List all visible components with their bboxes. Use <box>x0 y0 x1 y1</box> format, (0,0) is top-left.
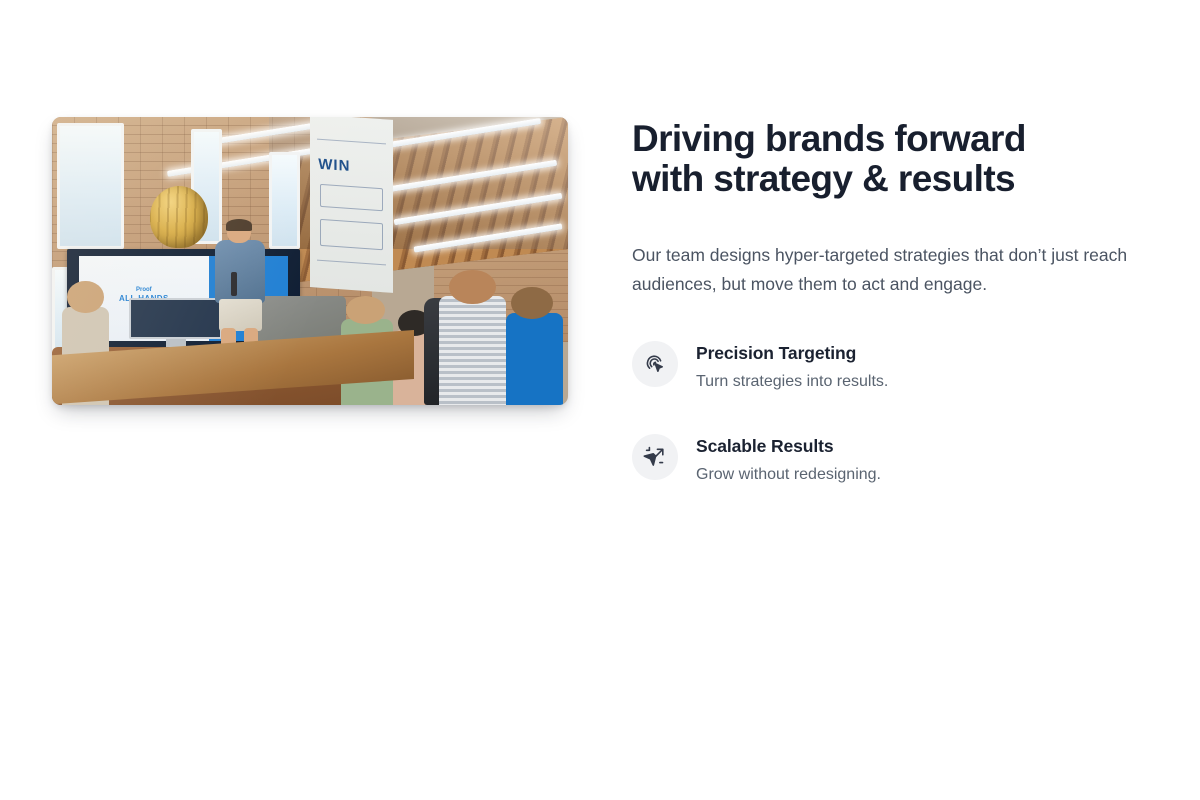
page-title: Driving brands forward with strategy & r… <box>632 119 1112 199</box>
expand-arrow-icon <box>632 434 678 480</box>
feature-title: Scalable Results <box>696 435 881 457</box>
feature-text: Precision Targeting Turn strategies into… <box>696 341 888 392</box>
headline-line-2: with strategy & results <box>632 159 1112 199</box>
hero-section: WIN Proof ALL HANDS 6/28/2019 <box>52 117 1148 485</box>
seated-person-head <box>511 287 552 319</box>
microphone <box>231 272 237 296</box>
window <box>269 152 300 250</box>
feature-description: Turn strategies into results. <box>696 372 888 392</box>
hero-subcopy: Our team designs hyper-targeted strategi… <box>632 241 1148 299</box>
landing-page: WIN Proof ALL HANDS 6/28/2019 <box>0 0 1200 800</box>
mural-win-text: WIN <box>318 156 350 175</box>
hero-copy: Driving brands forward with strategy & r… <box>632 117 1148 485</box>
desk-monitor <box>129 298 222 338</box>
seated-person <box>439 296 506 405</box>
seated-person <box>506 313 563 405</box>
feature-description: Grow without redesigning. <box>696 465 881 485</box>
seated-person-head <box>67 281 103 313</box>
hero-image: WIN Proof ALL HANDS 6/28/2019 <box>52 117 568 405</box>
gold-pendant-lamp <box>150 186 208 248</box>
seated-person-head <box>449 270 495 305</box>
feature-item-scalable-results: Scalable Results Grow without redesignin… <box>632 434 1148 485</box>
feature-item-precision-targeting: Precision Targeting Turn strategies into… <box>632 341 1148 392</box>
feature-title: Precision Targeting <box>696 342 888 364</box>
office-meeting-photo: WIN Proof ALL HANDS 6/28/2019 <box>52 117 568 405</box>
seated-person-head <box>346 296 385 325</box>
cursor-tap-icon <box>632 341 678 387</box>
wall-mural: WIN <box>310 117 393 293</box>
feature-text: Scalable Results Grow without redesignin… <box>696 434 881 485</box>
headline-line-1: Driving brands forward <box>632 119 1112 159</box>
screen-title: Proof <box>136 287 152 293</box>
feature-list: Precision Targeting Turn strategies into… <box>632 341 1148 485</box>
window <box>57 123 124 250</box>
